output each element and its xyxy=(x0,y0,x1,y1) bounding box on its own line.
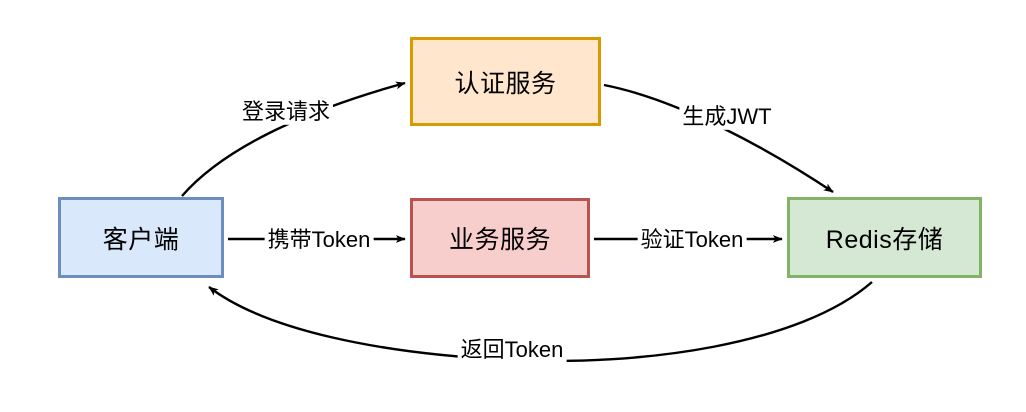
node-auth-service-label: 认证服务 xyxy=(454,64,556,100)
node-business-service[interactable]: 业务服务 xyxy=(410,198,590,278)
edge-generate-jwt xyxy=(604,85,833,192)
node-business-service-label: 业务服务 xyxy=(449,220,551,256)
node-auth-service[interactable]: 认证服务 xyxy=(410,37,601,126)
diagram-canvas: 客户端 认证服务 业务服务 Redis存储 登录请求 生成JWT 携带Token… xyxy=(0,0,1026,412)
node-redis-storage-label: Redis存储 xyxy=(826,220,943,256)
edge-label-return-token: 返回Token xyxy=(458,337,567,363)
edge-label-login-request: 登录请求 xyxy=(239,99,333,125)
node-client-label: 客户端 xyxy=(103,220,180,256)
edge-label-carry-token: 携带Token xyxy=(265,227,374,253)
node-client[interactable]: 客户端 xyxy=(58,197,224,278)
node-redis-storage[interactable]: Redis存储 xyxy=(787,197,982,278)
edge-label-generate-jwt: 生成JWT xyxy=(679,104,774,130)
edge-label-verify-token: 验证Token xyxy=(638,227,747,253)
